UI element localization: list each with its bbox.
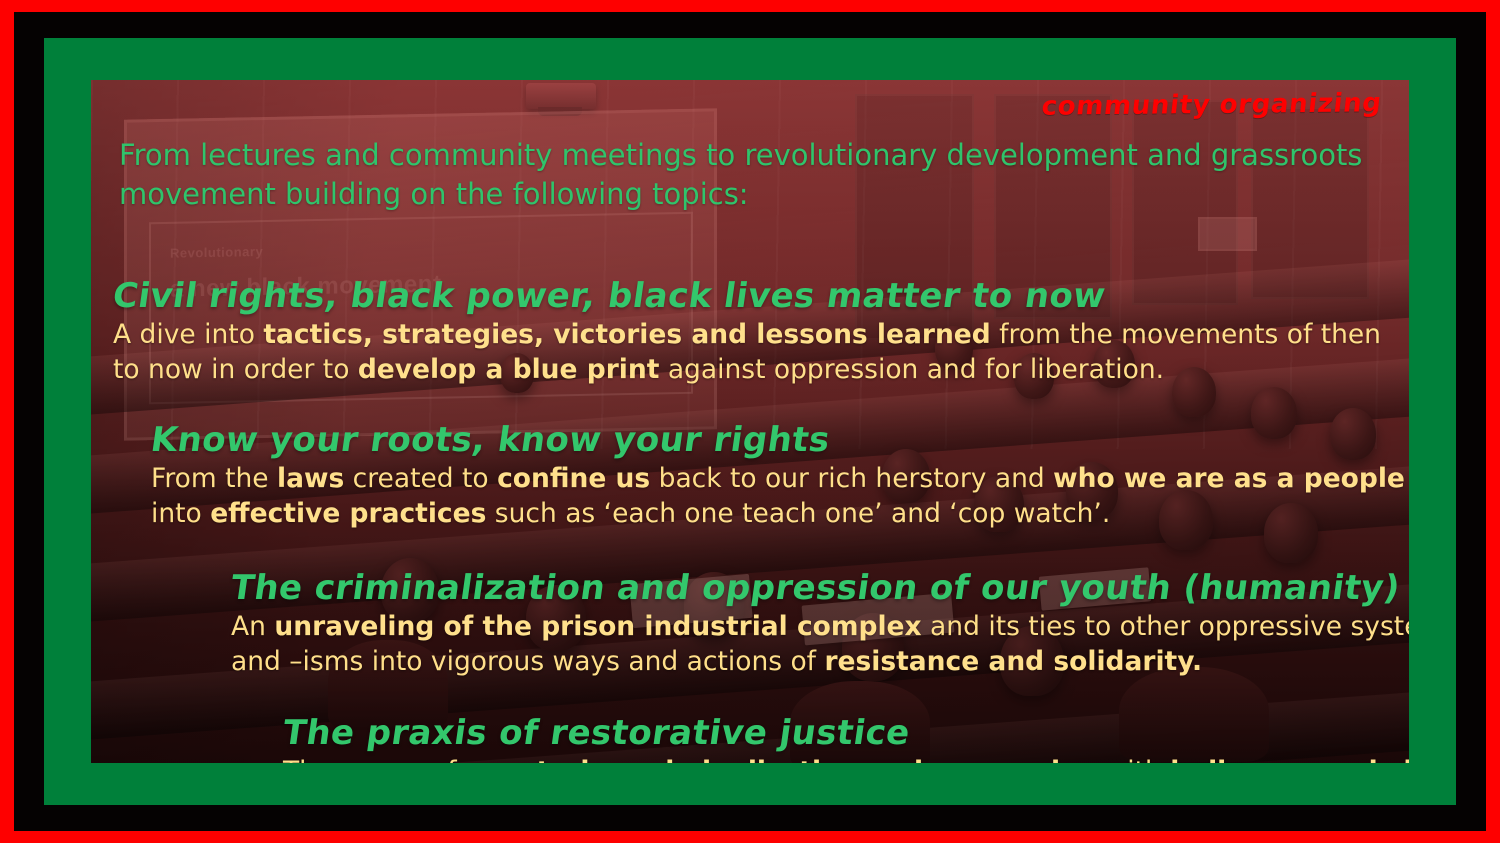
slide-stage: Revolutionary a new black movement [91, 80, 1409, 763]
topic-body: An unraveling of the prison industrial c… [231, 610, 1409, 679]
kicker-label: community organizing [1040, 88, 1383, 122]
topic-body: A dive into tactics, strategies, victori… [113, 318, 1409, 387]
topic-heading: The praxis of restorative justice [280, 713, 1409, 753]
topic-section: The praxis of restorative justice The po… [283, 713, 1409, 763]
outer-red-border: Revolutionary a new black movement [0, 0, 1500, 843]
topic-body: The power of countering criminalization … [283, 755, 1409, 763]
intro-paragraph: From lectures and community meetings to … [119, 136, 1379, 213]
slide-content: community organizing From lectures and c… [91, 80, 1409, 763]
topic-heading: Know your roots, know your rights [148, 420, 1409, 460]
inner-green-border: Revolutionary a new black movement [44, 38, 1456, 805]
mid-black-border: Revolutionary a new black movement [14, 12, 1486, 831]
topic-heading: Civil rights, black power, black lives m… [110, 276, 1409, 316]
topic-section: Civil rights, black power, black lives m… [113, 276, 1409, 387]
topic-body: From the laws created to confine us back… [151, 462, 1409, 531]
topic-section: Know your roots, know your rights From t… [151, 420, 1409, 531]
topic-heading: The criminalization and oppression of ou… [228, 568, 1409, 608]
topic-section: The criminalization and oppression of ou… [231, 568, 1409, 679]
